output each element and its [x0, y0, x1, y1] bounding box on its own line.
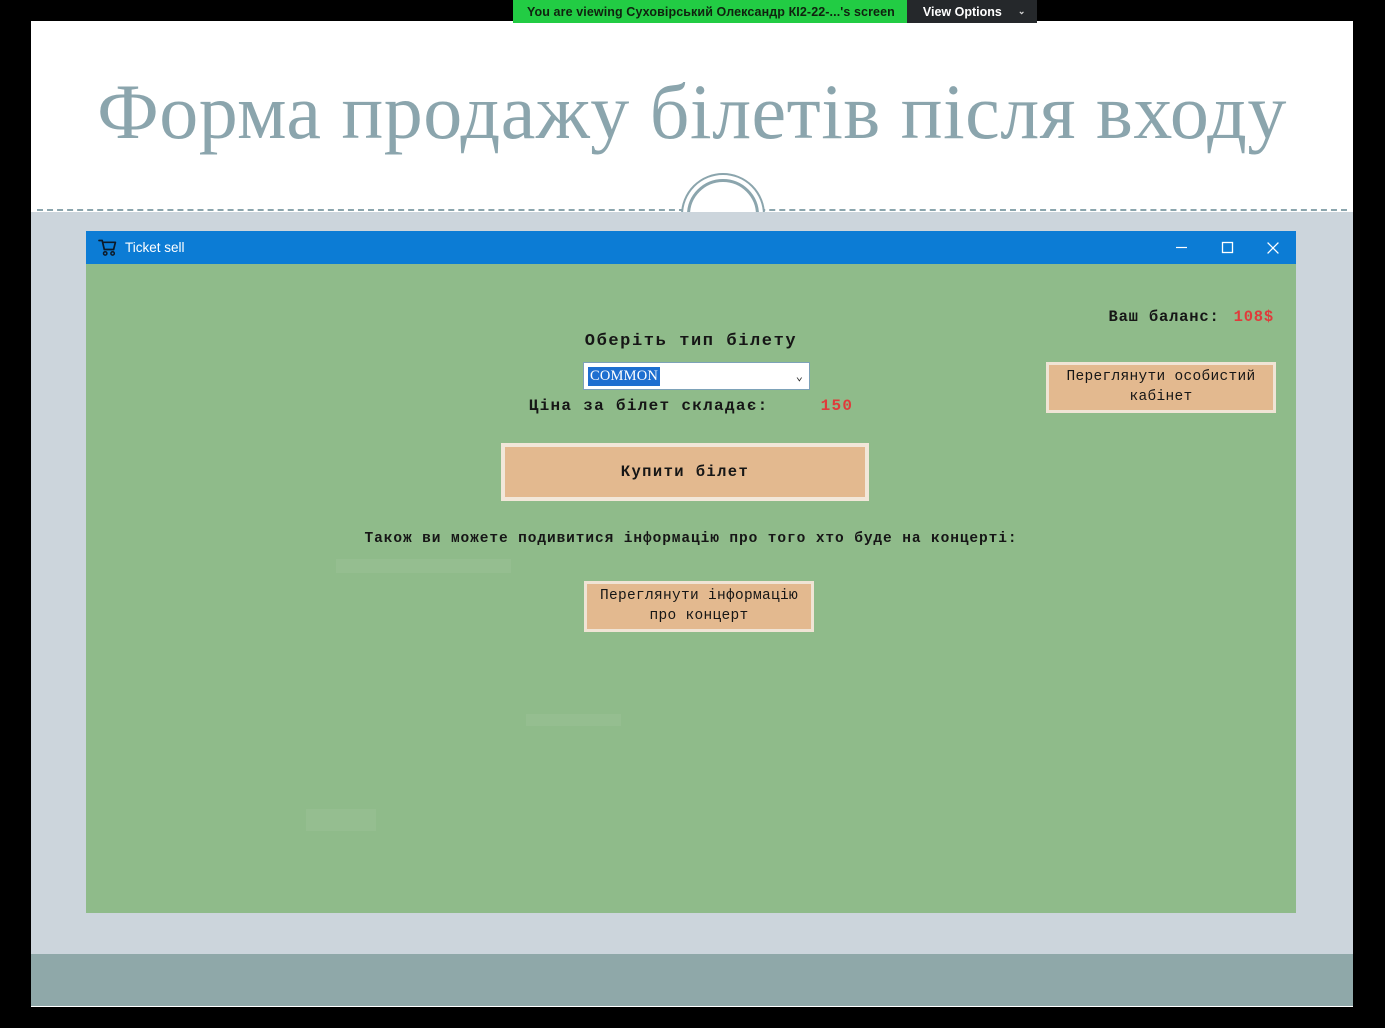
price-display: Ціна за білет складає:150 [86, 397, 1296, 415]
shopping-cart-icon [98, 239, 117, 256]
concert-button-line2: про концерт [649, 608, 748, 624]
ticket-type-label: Оберіть тип білету [86, 332, 1296, 351]
view-concert-info-button[interactable]: Переглянути інформацію про концерт [584, 581, 814, 632]
concert-info-text: Також ви можете подивитися інформацію пр… [86, 531, 1296, 547]
render-artifact [526, 714, 621, 726]
buy-ticket-button[interactable]: Купити білет [501, 443, 869, 501]
ticket-type-select[interactable]: COMMON ⌄ [583, 362, 810, 390]
minimize-icon[interactable] [1158, 231, 1204, 264]
balance-value: 108$ [1234, 308, 1274, 326]
render-artifact [306, 809, 376, 831]
concert-button-line1: Переглянути інформацію [600, 588, 798, 604]
window-title: Ticket sell [125, 240, 185, 255]
ticket-type-selected-value: COMMON [588, 367, 660, 386]
view-options-button[interactable]: View Options ⌄ [907, 0, 1038, 23]
ticket-form: Ваш баланс:108$ Переглянути особистий ка… [86, 264, 1296, 913]
screen-share-banner: You are viewing Суховірський Олександр К… [513, 0, 1037, 23]
view-options-label: View Options [923, 5, 1002, 19]
render-artifact [336, 559, 511, 573]
balance-label: Ваш баланс: [1108, 308, 1219, 326]
share-message: You are viewing Суховірський Олександр К… [513, 0, 907, 23]
maximize-icon[interactable] [1204, 231, 1250, 264]
close-icon[interactable] [1250, 231, 1296, 264]
ticket-sell-window: Ticket sell Ваш баланс:108$ Переглянути … [86, 231, 1296, 913]
price-label: Ціна за білет складає: [529, 397, 769, 415]
slide-footer-bar [31, 954, 1353, 1006]
chevron-down-icon: ⌄ [1018, 7, 1026, 16]
chevron-down-icon: ⌄ [796, 369, 803, 384]
balance-display: Ваш баланс:108$ [1108, 308, 1274, 326]
window-titlebar: Ticket sell [86, 231, 1296, 264]
price-value: 150 [821, 397, 854, 415]
concert-button-text: Переглянути інформацію про концерт [600, 587, 798, 626]
page-title: Форма продажу білетів після входу [31, 73, 1353, 151]
slide-title-area: Форма продажу білетів після входу [31, 21, 1353, 211]
